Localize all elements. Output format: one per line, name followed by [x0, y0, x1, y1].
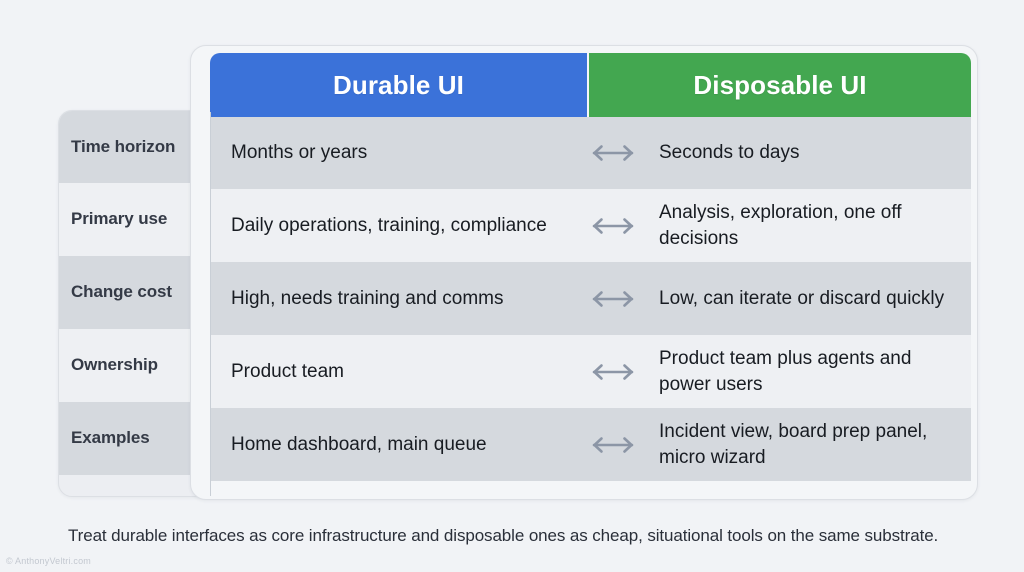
cell-disposable-ui: Low, can iterate or discard quickly — [659, 286, 971, 311]
double-arrow-horizontal-icon — [591, 288, 635, 310]
row-label-text: Ownership — [71, 355, 158, 375]
cell-disposable-ui: Seconds to days — [659, 140, 971, 165]
cell-durable-ui: High, needs training and comms — [210, 286, 567, 311]
double-arrow-horizontal-icon — [591, 215, 635, 237]
watermark-credit: © AnthonyVeltri.com — [6, 556, 91, 566]
row-compare-arrow — [567, 215, 659, 237]
double-arrow-horizontal-icon — [591, 434, 635, 456]
table-row: Daily operations, training, complianceAn… — [210, 189, 971, 262]
row-compare-arrow — [567, 434, 659, 456]
column-header-durable-ui: Durable UI — [210, 53, 587, 117]
row-compare-arrow — [567, 288, 659, 310]
table-row: High, needs training and commsLow, can i… — [210, 262, 971, 335]
double-arrow-horizontal-icon — [591, 361, 635, 383]
table-row: Home dashboard, main queueIncident view,… — [210, 408, 971, 481]
table-body: Months or yearsSeconds to daysDaily oper… — [210, 117, 971, 481]
label-column-divider — [210, 112, 211, 496]
cell-durable-ui: Product team — [210, 359, 567, 384]
comparison-table: Durable UI Disposable UI Months or years… — [191, 46, 977, 499]
column-header-disposable-ui: Disposable UI — [589, 53, 971, 117]
cell-durable-ui: Months or years — [210, 140, 567, 165]
table-row: Product teamProduct team plus agents and… — [210, 335, 971, 408]
row-label-text: Change cost — [71, 282, 172, 302]
row-compare-arrow — [567, 142, 659, 164]
cell-disposable-ui: Analysis, exploration, one off decisions — [659, 200, 971, 250]
cell-durable-ui: Home dashboard, main queue — [210, 432, 567, 457]
table-row: Months or yearsSeconds to days — [210, 117, 971, 189]
caption-text: Treat durable interfaces as core infrast… — [68, 526, 938, 546]
cell-durable-ui: Daily operations, training, compliance — [210, 213, 567, 238]
row-label-text: Examples — [71, 428, 150, 448]
cell-disposable-ui: Product team plus agents and power users — [659, 346, 971, 396]
cell-disposable-ui: Incident view, board prep panel, micro w… — [659, 419, 971, 469]
row-compare-arrow — [567, 361, 659, 383]
table-header-row: Durable UI Disposable UI — [210, 53, 971, 117]
slide-canvas: Time horizonPrimary useChange costOwners… — [0, 0, 1024, 572]
row-label-text: Primary use — [71, 209, 167, 229]
double-arrow-horizontal-icon — [591, 142, 635, 164]
row-label-text: Time horizon — [71, 137, 175, 157]
